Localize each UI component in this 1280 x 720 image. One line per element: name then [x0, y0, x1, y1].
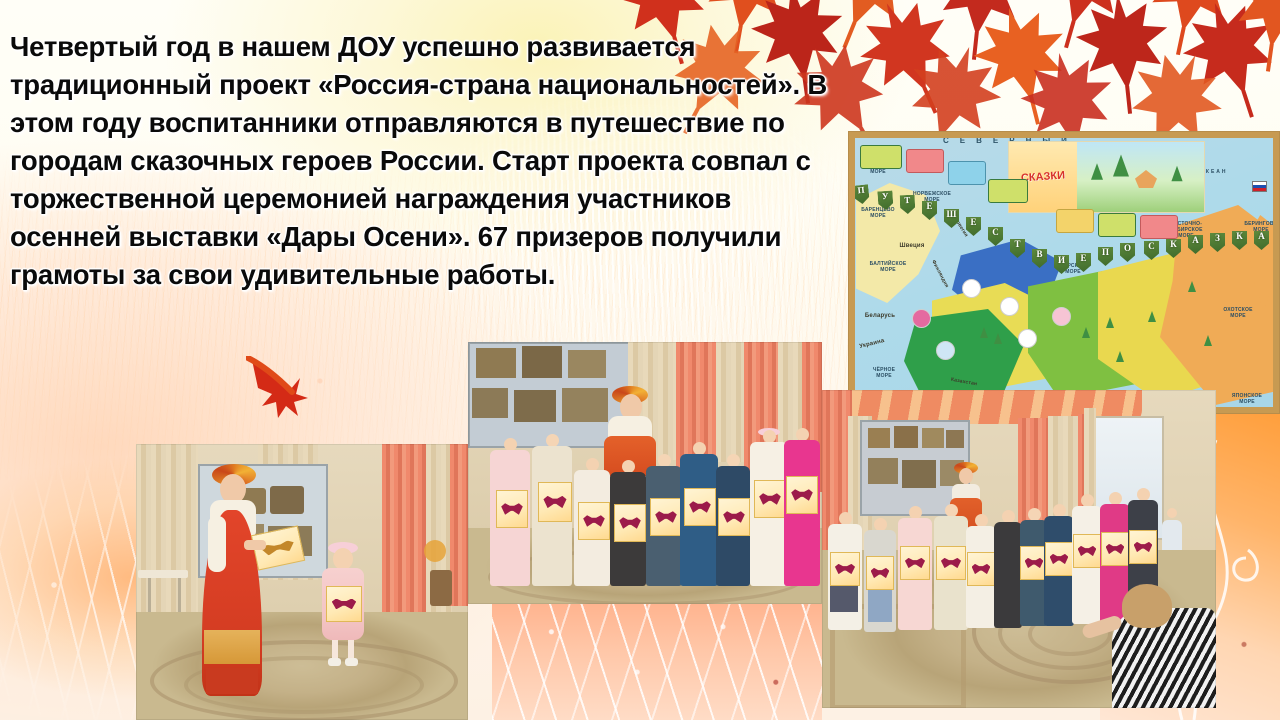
slide-title-text: Четвертый год в нашем ДОУ успешно развив… [10, 28, 840, 294]
photo-children-with-certificates [468, 342, 822, 604]
maple-leaf-accent-icon [246, 356, 312, 420]
photo-music-hall-wide [822, 390, 1216, 708]
photo-map-of-russia: СЕВЕРНЫЙ ОКЕАН СЕВЕРНОЕ МОРЕ НОРВЕЖСКОЕ … [848, 131, 1280, 414]
photo-award-ceremony-girl [136, 444, 468, 720]
presentation-slide: Четвертый год в нашем ДОУ успешно развив… [0, 0, 1280, 720]
orange-sparkle-panel-bottom [492, 594, 822, 720]
